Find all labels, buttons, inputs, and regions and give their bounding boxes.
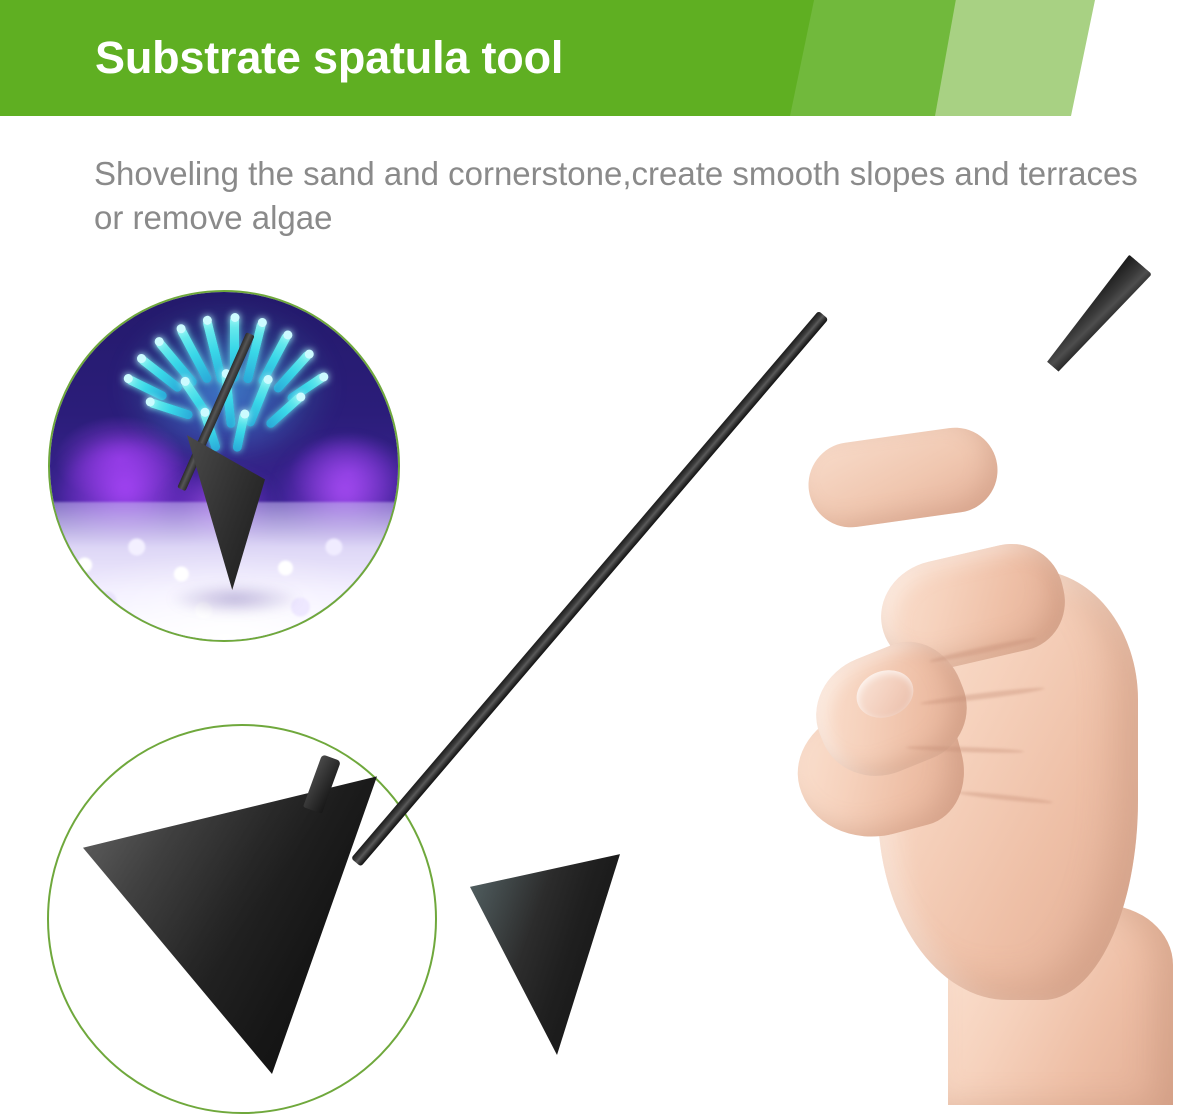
tool-shaft <box>351 311 828 867</box>
knuckle-ridge <box>803 422 1003 533</box>
header-banner: Substrate spatula tool <box>0 0 1200 116</box>
inset-aquarium-usage-photo <box>48 290 400 642</box>
blade-shadow-on-gravel <box>170 584 300 614</box>
tool-triangular-blade <box>470 850 620 1055</box>
tool-paddle-tip <box>1042 255 1152 377</box>
banner-stripe-light <box>935 0 1095 116</box>
page-title: Substrate spatula tool <box>95 32 563 84</box>
inset-blade-closeup <box>47 724 437 1114</box>
main-product-photo <box>440 225 1200 1085</box>
hand <box>808 435 1200 1085</box>
